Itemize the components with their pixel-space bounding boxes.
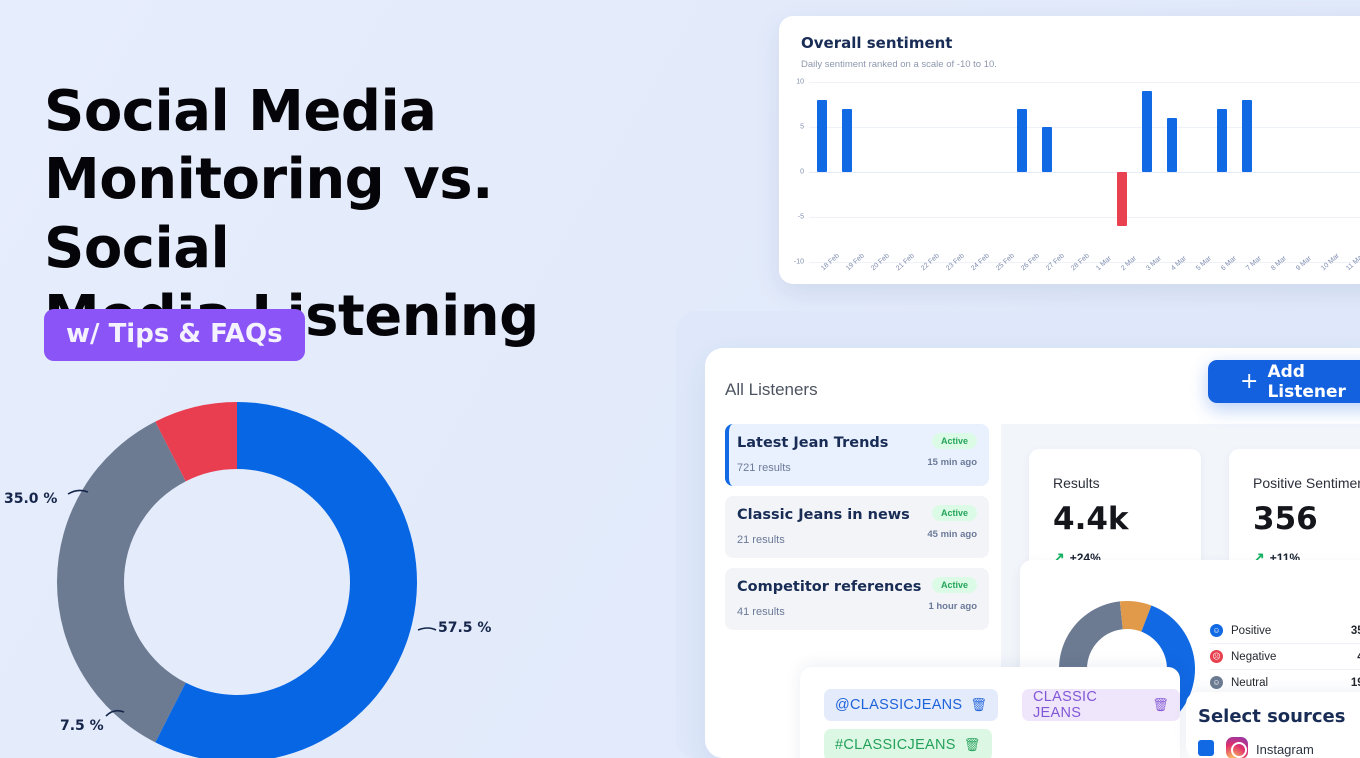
x-tick-label: 9 Mar	[1295, 255, 1313, 272]
leader-line-blue	[418, 628, 436, 630]
list-item[interactable]: Competitor references 41 results Active …	[725, 568, 989, 630]
legend-item-positive: ☺ Positive 356	[1210, 618, 1360, 644]
stat-label: Results	[1053, 475, 1100, 491]
legend-value: 356	[1351, 625, 1360, 637]
x-tick-label: 5 Mar	[1195, 255, 1213, 272]
smiley-positive-icon: ☺	[1210, 624, 1223, 637]
gridline--5	[809, 217, 1360, 218]
x-tick-label: 1 Mar	[1095, 255, 1113, 272]
gridline-10	[809, 82, 1360, 83]
select-sources-card: Select sources Instagram	[1186, 692, 1360, 758]
x-tick-label: 3 Mar	[1145, 255, 1163, 272]
add-listener-label: Add Listener	[1267, 362, 1360, 402]
stat-value: 356	[1253, 501, 1318, 537]
x-tick-label: 6 Mar	[1220, 255, 1238, 272]
donut-label-red: 7.5 %	[60, 718, 104, 734]
plus-icon: +	[1240, 371, 1258, 393]
keywords-card: @CLASSICJEANS 🗑 CLASSIC JEANS 🗑 #CLASSIC…	[800, 667, 1180, 758]
listener-time: 1 hour ago	[928, 601, 977, 612]
title-line-1: Social Media	[44, 79, 436, 144]
stat-value: 4.4k	[1053, 501, 1129, 537]
keyword-tag-mention[interactable]: @CLASSICJEANS 🗑	[824, 689, 998, 721]
keyword-tag-phrase[interactable]: CLASSIC JEANS 🗑	[1022, 689, 1180, 721]
sentiment-card-subtitle: Daily sentiment ranked on a scale of -10…	[801, 59, 997, 70]
bar-3-Mar	[1142, 91, 1152, 172]
all-listeners-heading: All Listeners	[725, 380, 818, 400]
legend-value: 198	[1351, 677, 1360, 689]
bar-4-Mar	[1167, 118, 1177, 172]
listener-name: Latest Jean Trends	[737, 435, 888, 451]
listener-time: 15 min ago	[927, 457, 977, 468]
y-tick-label: 5	[800, 124, 804, 131]
hero-donut-chart: 35.0 % 57.5 % 7.5 %	[0, 382, 520, 758]
status-badge: Active	[932, 505, 977, 521]
keyword-tag-label: #CLASSICJEANS	[835, 737, 956, 753]
bar-2-Mar	[1117, 172, 1127, 226]
keyword-tag-hashtag[interactable]: #CLASSICJEANS 🗑	[824, 729, 992, 758]
list-item[interactable]: Classic Jeans in news 21 results Active …	[725, 496, 989, 558]
y-tick-label: -10	[794, 259, 804, 266]
smiley-negative-icon: ☹	[1210, 650, 1223, 663]
y-tick-label: -5	[798, 214, 804, 221]
trash-icon[interactable]: 🗑	[964, 737, 981, 753]
x-tick-label: 4 Mar	[1170, 255, 1188, 272]
trash-icon[interactable]: 🗑	[970, 697, 987, 713]
listener-results: 721 results	[737, 462, 791, 474]
legend-item-negative: ☹ Negative 45	[1210, 644, 1360, 670]
listener-results: 21 results	[737, 534, 785, 546]
bar-7-Mar	[1242, 100, 1252, 172]
source-checkbox-instagram[interactable]	[1198, 740, 1214, 756]
overall-sentiment-card: Overall sentiment Daily sentiment ranked…	[779, 16, 1360, 284]
x-tick-label: 2 Mar	[1120, 255, 1138, 272]
x-tick-label: 8 Mar	[1270, 255, 1288, 272]
add-listener-button[interactable]: + Add Listener	[1208, 360, 1360, 403]
status-badge: Active	[932, 577, 977, 593]
keyword-tag-label: @CLASSICJEANS	[835, 697, 962, 713]
listener-results: 41 results	[737, 606, 785, 618]
tips-faqs-badge: w/ Tips & FAQs	[44, 309, 305, 361]
y-tick-label: 10	[796, 79, 804, 86]
listener-time: 45 min ago	[927, 529, 977, 540]
bar-27-Feb	[1042, 127, 1052, 172]
stat-label: Positive Sentiment	[1253, 475, 1360, 491]
bar-19-Feb	[842, 109, 852, 172]
listener-name: Competitor references	[737, 579, 921, 595]
x-tick-label: 7 Mar	[1245, 255, 1263, 272]
legend-label: Positive	[1231, 625, 1351, 637]
sentiment-card-title: Overall sentiment	[801, 34, 952, 52]
keyword-tag-label: CLASSIC JEANS	[1033, 689, 1144, 721]
bar-6-Mar	[1217, 109, 1227, 172]
status-badge: Active	[932, 433, 977, 449]
bar-18-Feb	[817, 100, 827, 172]
instagram-icon	[1226, 737, 1248, 758]
smiley-neutral-icon: ☺	[1210, 676, 1223, 689]
donut-label-blue: 57.5 %	[438, 620, 491, 636]
legend-label: Negative	[1231, 651, 1357, 663]
bar-26-Feb	[1017, 109, 1027, 172]
title-line-2: Monitoring vs. Social	[44, 147, 493, 280]
donut-slice-1	[57, 422, 186, 743]
donut-svg	[0, 382, 520, 758]
legend-label: Neutral	[1231, 677, 1351, 689]
y-tick-label: 0	[800, 169, 804, 176]
gridline-0	[809, 172, 1360, 173]
donut-label-gray: 35.0 %	[4, 491, 57, 507]
source-label-instagram: Instagram	[1256, 742, 1314, 757]
select-sources-heading: Select sources	[1198, 706, 1345, 727]
listener-name: Classic Jeans in news	[737, 507, 910, 523]
sentiment-bar-plot: 1050-5-1018 Feb19 Feb20 Feb21 Feb22 Feb2…	[809, 82, 1360, 262]
list-item[interactable]: Latest Jean Trends 721 results Active 15…	[725, 424, 989, 486]
trash-icon[interactable]: 🗑	[1152, 697, 1169, 713]
gridline-5	[809, 127, 1360, 128]
